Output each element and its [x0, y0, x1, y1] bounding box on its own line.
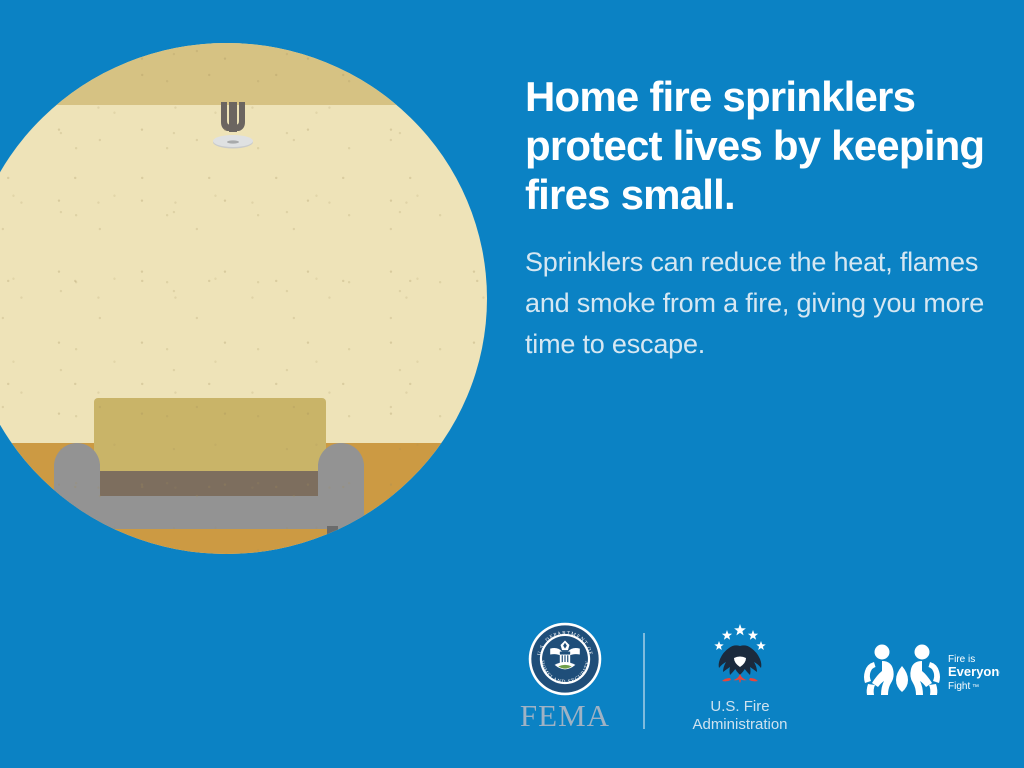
usfa-name-line2: Administration	[692, 716, 787, 733]
usfa-name-line1: U.S. Fire	[710, 698, 769, 715]
message-block: Home fire sprinklers protect lives by ke…	[525, 72, 987, 365]
usfa-name: U.S. FireAdministration	[670, 698, 810, 734]
sofa-leg-right	[327, 526, 338, 546]
sofa-illustration	[54, 398, 364, 546]
sofa-base	[54, 496, 364, 529]
fire-is-everyones-fight-icon: Fire is Everyone's Fight ™	[860, 640, 1000, 702]
poster-canvas: Home fire sprinklers protect lives by ke…	[0, 0, 1024, 768]
subheadline: Sprinklers can reduce the heat, flames a…	[525, 242, 987, 365]
usfa-logo: U.S. FireAdministration	[670, 622, 810, 734]
usfa-eagle-icon	[694, 622, 786, 696]
feef-trademark: ™	[972, 684, 979, 691]
fema-logo: U.S. DEPARTMENT OF HOMELAND SECURITY	[505, 622, 625, 732]
feef-text-line3: Fight	[948, 681, 970, 692]
fema-wordmark: FEMA	[505, 700, 625, 732]
sofa-leg-left	[80, 526, 91, 546]
ceiling-sprinkler-icon	[207, 102, 259, 152]
headline: Home fire sprinklers protect lives by ke…	[525, 72, 987, 219]
ceiling-band	[0, 43, 487, 105]
feef-text-line2: Everyone's	[948, 664, 1000, 679]
usfa-flame-icon	[722, 674, 758, 683]
feef-figures	[864, 645, 940, 696]
logo-divider	[643, 633, 645, 729]
illustration-circle	[0, 43, 487, 554]
dhs-seal-icon: U.S. DEPARTMENT OF HOMELAND SECURITY	[528, 622, 602, 696]
fire-is-everyones-fight-logo: Fire is Everyone's Fight ™	[860, 640, 1005, 702]
logo-footer: U.S. DEPARTMENT OF HOMELAND SECURITY	[505, 622, 1005, 742]
